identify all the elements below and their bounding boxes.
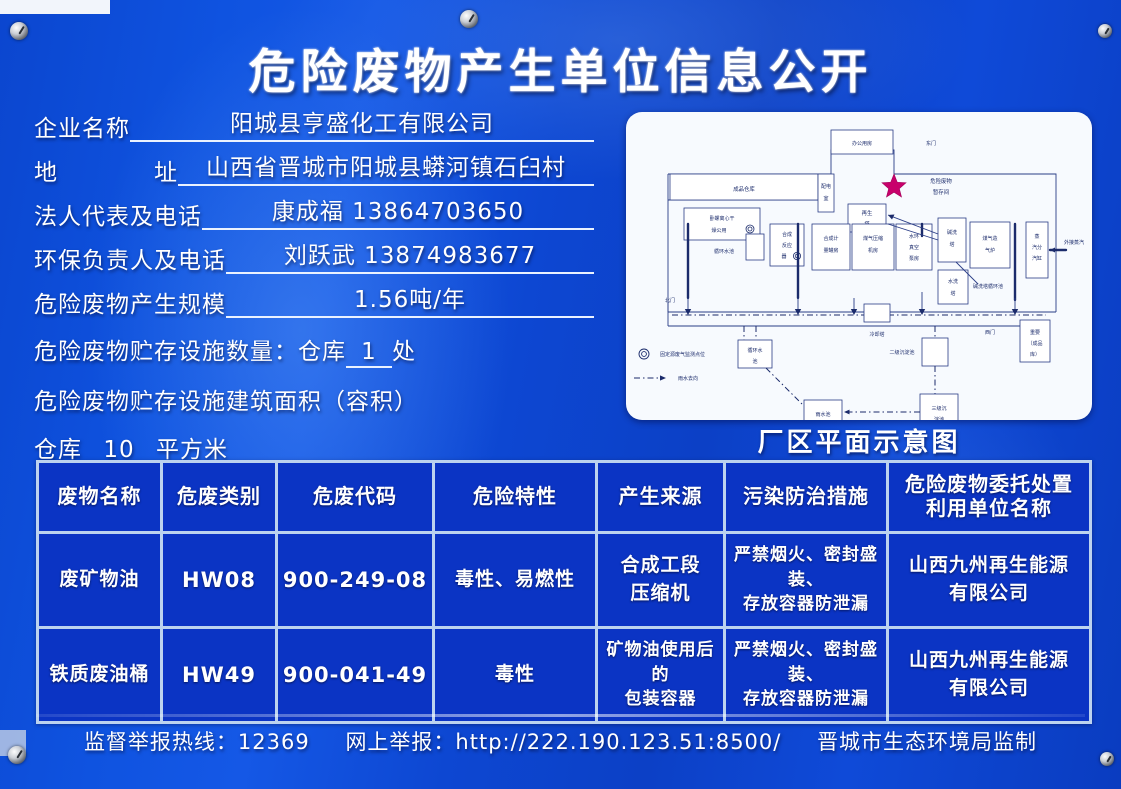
factory-layout-diagram: 办公用房 东门 成品仓库 配电 室 危险废物 暂存间 再生 塔 卧螺离心干 燥公… bbox=[626, 112, 1092, 420]
diagram-label-store-3: 库） bbox=[1030, 351, 1040, 358]
info-value-env-officer: 刘跃武 13874983677 bbox=[226, 244, 594, 274]
cell-source-1: 矿物油使用后的包装容器 bbox=[598, 629, 723, 721]
cell-waste-name-1: 铁质废油桶 bbox=[39, 629, 160, 721]
diagram-label-steam-1: 蒸 bbox=[1034, 233, 1039, 240]
table-header-waste-name: 废物名称 bbox=[39, 463, 160, 531]
diagram-label-regen-tower-1: 再生 bbox=[862, 209, 873, 217]
diagram-label-gas-furnace-1: 煤气造 bbox=[982, 235, 997, 242]
cell-source-0: 合成工段压缩机 bbox=[598, 534, 723, 626]
diagram-legend-rain-text: 雨水去向 bbox=[678, 375, 698, 382]
info-row-legal-rep: 法人代表及电话 康成福 13864703650 bbox=[34, 200, 594, 230]
diagram-label-gas-furnace-2: 气炉 bbox=[985, 247, 995, 254]
diagram-label-power-room-2: 室 bbox=[823, 195, 828, 202]
diagram-label-west-gate: 西门 bbox=[985, 329, 995, 336]
diagram-label-metering-1: 合成计 bbox=[823, 235, 838, 242]
monitor-point-icon-legend-b bbox=[642, 352, 647, 357]
hazardous-waste-star-icon bbox=[882, 174, 906, 197]
info-suffix-storage-count: 处 bbox=[392, 339, 416, 365]
cell-category-1: HW49 bbox=[163, 629, 275, 721]
diagram-label-vacuum-3: 泵房 bbox=[909, 255, 919, 262]
diagram-label-hw-storage-2: 暂存间 bbox=[933, 188, 949, 196]
diagram-label-centrifuge-2: 燥公用 bbox=[711, 227, 726, 234]
diagram-label-store-2: （成品 bbox=[1027, 340, 1042, 347]
table-header-measures: 污染防治措施 bbox=[726, 463, 886, 531]
cell-hazard-0: 毒性、易燃性 bbox=[435, 534, 595, 626]
footer-online-report: 网上举报：http://222.190.123.51:8500/ bbox=[345, 730, 781, 754]
diagram-label-power-room-1: 配电 bbox=[821, 183, 831, 190]
info-row-env-officer: 环保负责人及电话 刘跃武 13874983677 bbox=[34, 244, 594, 274]
table-row: 废矿物油 HW08 900-249-08 毒性、易燃性 合成工段压缩机 严禁烟火… bbox=[39, 534, 1089, 626]
diagram-label-warehouse: 成品仓库 bbox=[733, 185, 755, 193]
info-label-storage-count: 危险废物贮存设施数量：仓库 bbox=[34, 339, 346, 365]
info-value-generation-scale: 1.56吨/年 bbox=[226, 288, 594, 318]
info-label-generation-scale: 危险废物产生规模 bbox=[34, 293, 226, 318]
diagram-label-reactor-1: 合成 bbox=[782, 231, 792, 238]
diagram-label-store-1: 重要 bbox=[1030, 329, 1040, 336]
diagram-label-cooling-tower: 冷却塔 bbox=[869, 331, 884, 338]
footer-issuer: 晋城市生态环境局监制 bbox=[817, 730, 1037, 754]
diagram-label-external-steam: 外接蒸汽 bbox=[1064, 239, 1084, 246]
factory-layout-canvas: 办公用房 东门 成品仓库 配电 室 危险废物 暂存间 再生 塔 卧螺离心干 燥公… bbox=[626, 112, 1092, 420]
diagram-label-vacuum-1: 水环 bbox=[909, 233, 919, 240]
table-header-code: 危废代码 bbox=[278, 463, 432, 531]
cell-waste-name-0: 废矿物油 bbox=[39, 534, 160, 626]
diagram-label-circ-pool-2: 池 bbox=[752, 358, 757, 365]
hazardous-waste-table: 废物名称 危废类别 危废代码 危险特性 产生来源 污染防治措施 危险废物委托处置… bbox=[36, 460, 1092, 724]
info-label-storage-area-title: 危险废物贮存设施建筑面积（容积） bbox=[34, 382, 594, 416]
info-row-storage-count: 危险废物贮存设施数量：仓库1处 bbox=[34, 332, 594, 368]
diagram-label-circ-pool-1: 循环水 bbox=[747, 347, 762, 354]
page-title: 危险废物产生单位信息公开 bbox=[0, 33, 1121, 102]
cell-entrusted-0: 山西九州再生能源有限公司 bbox=[889, 534, 1089, 626]
footer-divider bbox=[36, 714, 1085, 717]
diagram-label-north-gate: 北门 bbox=[665, 297, 675, 304]
cell-hazard-1: 毒性 bbox=[435, 629, 595, 721]
info-label-address: 地 址 bbox=[34, 161, 178, 186]
diagram-label-hw-storage-1: 危险废物 bbox=[930, 177, 952, 185]
cell-code-1: 900-041-49 bbox=[278, 629, 432, 721]
diagram-label-steam-2: 汽分 bbox=[1032, 244, 1042, 251]
cell-code-0: 900-249-08 bbox=[278, 534, 432, 626]
board-top-edge-strip bbox=[0, 0, 110, 14]
cell-measures-0: 严禁烟火、密封盛装、存放容器防泄漏 bbox=[726, 534, 886, 626]
company-info-block: 企业名称 阳城县亨盛化工有限公司 地 址 山西省晋城市阳城县蟒河镇石臼村 法人代… bbox=[34, 112, 594, 480]
info-row-address: 地 址 山西省晋城市阳城县蟒河镇石臼村 bbox=[34, 156, 594, 186]
diagram-label-reactor-2: 反应 bbox=[782, 242, 792, 249]
cell-entrusted-1: 山西九州再生能源有限公司 bbox=[889, 629, 1089, 721]
info-value-storage-count: 1 bbox=[346, 339, 392, 368]
info-label-company-name: 企业名称 bbox=[34, 117, 130, 142]
diagram-label-circ-water-note: 循环水池 bbox=[714, 248, 734, 255]
diagram-label-alkali-2: 塔 bbox=[949, 241, 954, 248]
diagram-label-centrifuge-1: 卧螺离心干 bbox=[709, 215, 734, 222]
monitor-point-icon-legend bbox=[639, 349, 649, 359]
info-row-company-name: 企业名称 阳城县亨盛化工有限公司 bbox=[34, 112, 594, 142]
diagram-label-gas-compressor-2: 机房 bbox=[868, 247, 878, 254]
diagram-label-reactor-3: 器 bbox=[781, 254, 786, 260]
info-value-company-name: 阳城县亨盛化工有限公司 bbox=[130, 112, 594, 142]
info-value-legal-rep: 康成福 13864703650 bbox=[202, 200, 594, 230]
table-header-category: 危废类别 bbox=[163, 463, 275, 531]
footer-hotline: 监督举报热线：12369 bbox=[84, 730, 310, 754]
diagram-label-tertiary-sed-2: 淀池 bbox=[934, 416, 944, 420]
cell-category-0: HW08 bbox=[163, 534, 275, 626]
info-label-legal-rep: 法人代表及电话 bbox=[34, 205, 202, 230]
table-header-hazard: 危险特性 bbox=[435, 463, 595, 531]
footer-bar: 监督举报热线：12369 网上举报：http://222.190.123.51:… bbox=[0, 726, 1121, 756]
diagram-label-vacuum-2: 真空 bbox=[909, 244, 919, 251]
cell-measures-1: 严禁烟火、密封盛装、存放容器防泄漏 bbox=[726, 629, 886, 721]
diagram-caption: 厂区平面示意图 bbox=[626, 422, 1092, 459]
diagram-label-rain-pool: 雨水池 bbox=[815, 411, 830, 418]
info-row-generation-scale: 危险废物产生规模 1.56吨/年 bbox=[34, 288, 594, 318]
diagram-label-east-gate: 东门 bbox=[926, 140, 936, 147]
table-row: 铁质废油桶 HW49 900-041-49 毒性 矿物油使用后的包装容器 严禁烟… bbox=[39, 629, 1089, 721]
info-label-env-officer: 环保负责人及电话 bbox=[34, 249, 226, 274]
diagram-label-office: 办公用房 bbox=[852, 140, 872, 147]
diagram-label-alkali-1: 碱洗 bbox=[947, 229, 957, 236]
screw-icon-top-center bbox=[460, 10, 478, 28]
diagram-legend-monitor-text: 固定源废气监测点位 bbox=[660, 351, 705, 358]
diagram-label-tertiary-sed-1: 三级沉 bbox=[931, 405, 946, 412]
diagram-label-water-wash-1: 水洗 bbox=[948, 278, 958, 285]
diagram-label-metering-2: 量罐房 bbox=[823, 247, 838, 254]
diagram-label-water-wash-2: 塔 bbox=[950, 290, 955, 297]
table-header-source: 产生来源 bbox=[598, 463, 723, 531]
table-header-row: 废物名称 危废类别 危废代码 危险特性 产生来源 污染防治措施 危险废物委托处置… bbox=[39, 463, 1089, 531]
diagram-label-gas-compressor-1: 煤气压缩 bbox=[863, 235, 883, 242]
diagram-label-secondary-sed: 二级沉淀池 bbox=[889, 349, 914, 356]
diagram-label-steam-3: 汽缸 bbox=[1032, 255, 1042, 262]
factory-layout-svg: 办公用房 东门 成品仓库 配电 室 危险废物 暂存间 再生 塔 卧螺离心干 燥公… bbox=[626, 112, 1092, 420]
table-header-entrusted: 危险废物委托处置利用单位名称 bbox=[889, 463, 1089, 531]
info-value-address: 山西省晋城市阳城县蟒河镇石臼村 bbox=[178, 156, 594, 186]
